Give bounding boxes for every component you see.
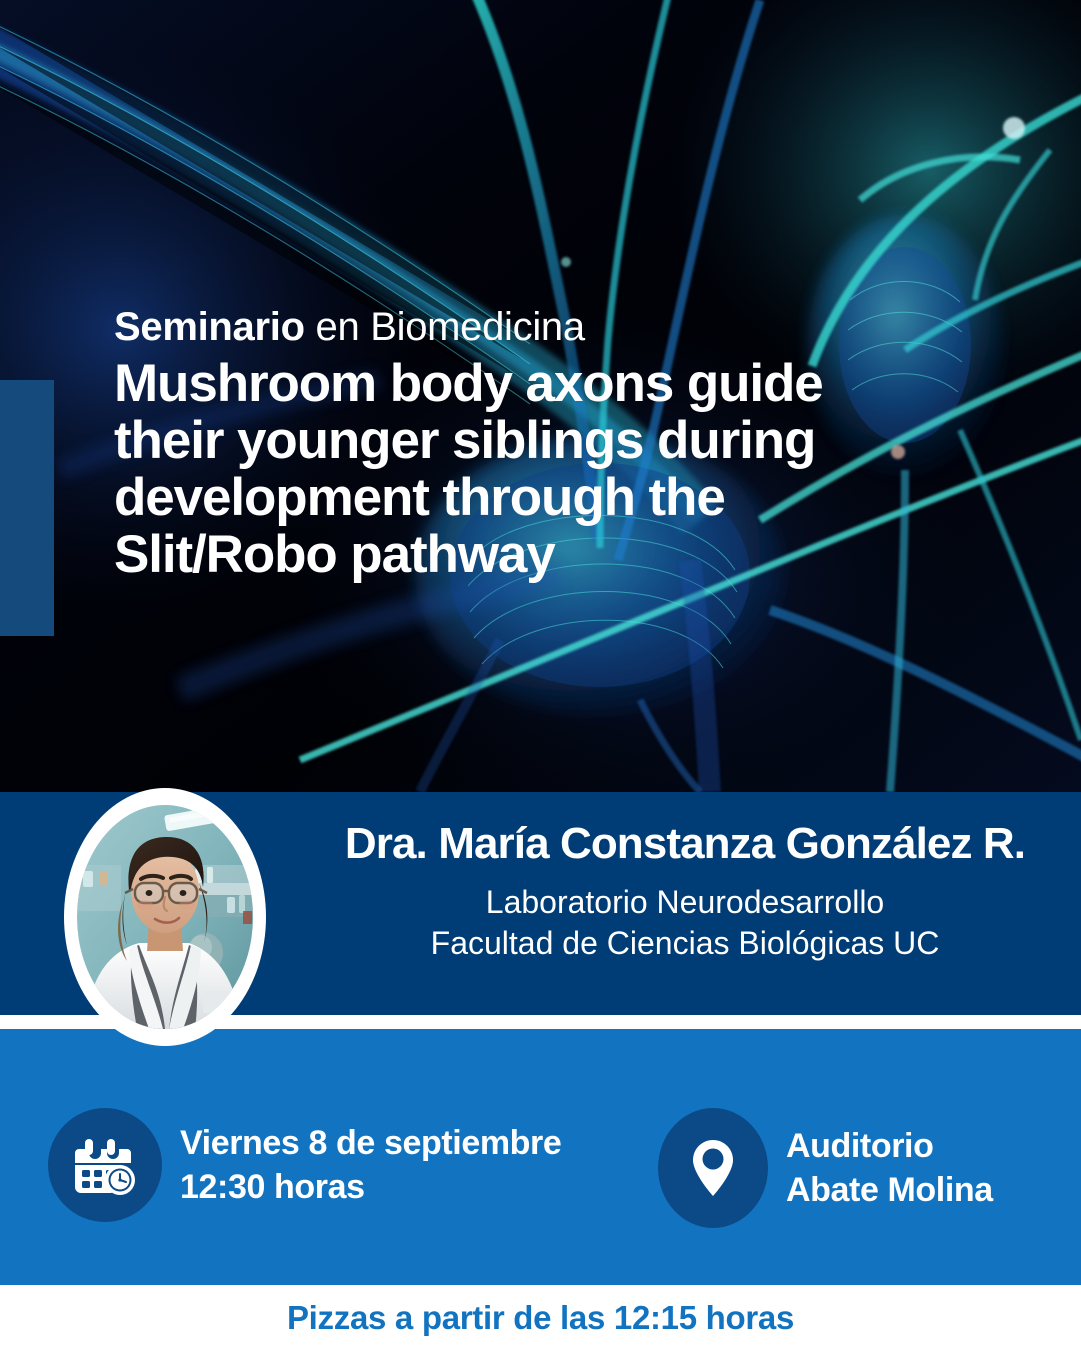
calendar-clock-glyph (73, 1133, 137, 1197)
page-title: Mushroom body axons guide their younger … (114, 356, 1014, 583)
kicker-strong: Seminario (114, 305, 305, 349)
time-line: 12:30 horas (180, 1165, 561, 1209)
speaker-details: Dra. María Constanza González R. Laborat… (300, 820, 1070, 964)
left-decorative-tab (0, 380, 54, 636)
speaker-affiliation: Laboratorio Neurodesarrollo Facultad de … (300, 882, 1070, 964)
hero-section: Seminario en Biomedicina Mushroom body a… (0, 0, 1081, 792)
speaker-portrait-illustration (77, 805, 253, 1029)
affiliation-line-2: Facultad de Ciencias Biológicas UC (300, 923, 1070, 964)
affiliation-line-1: Laboratorio Neurodesarrollo (300, 882, 1070, 923)
seminar-poster: Seminario en Biomedicina Mushroom body a… (0, 0, 1081, 1351)
footer-note: Pizzas a partir de las 12:15 horas (287, 1299, 794, 1337)
location-text: Auditorio Abate Molina (786, 1124, 993, 1212)
footer-bar: Pizzas a partir de las 12:15 horas (0, 1285, 1081, 1351)
map-pin-icon (658, 1108, 768, 1228)
avatar-photo (77, 805, 253, 1029)
date-time-text: Viernes 8 de septiembre 12:30 horas (180, 1121, 561, 1209)
kicker-light: en Biomedicina (305, 305, 585, 349)
map-pin-glyph (689, 1136, 737, 1200)
title-block: Seminario en Biomedicina Mushroom body a… (114, 306, 1014, 583)
venue-line-2: Abate Molina (786, 1168, 993, 1212)
avatar (64, 788, 266, 1046)
title-line-1: Mushroom body axons guide (114, 356, 1014, 413)
calendar-clock-icon (48, 1108, 162, 1222)
date-time-info: Viernes 8 de septiembre 12:30 horas (48, 1108, 561, 1222)
title-line-2: their younger siblings during (114, 413, 1014, 470)
kicker-line: Seminario en Biomedicina (114, 306, 1014, 348)
location-info: Auditorio Abate Molina (658, 1108, 993, 1228)
venue-line-1: Auditorio (786, 1124, 993, 1168)
title-line-4: Slit/Robo pathway (114, 527, 1014, 584)
date-line: Viernes 8 de septiembre (180, 1121, 561, 1165)
speaker-name: Dra. María Constanza González R. (300, 820, 1070, 868)
title-line-3: development through the (114, 470, 1014, 527)
